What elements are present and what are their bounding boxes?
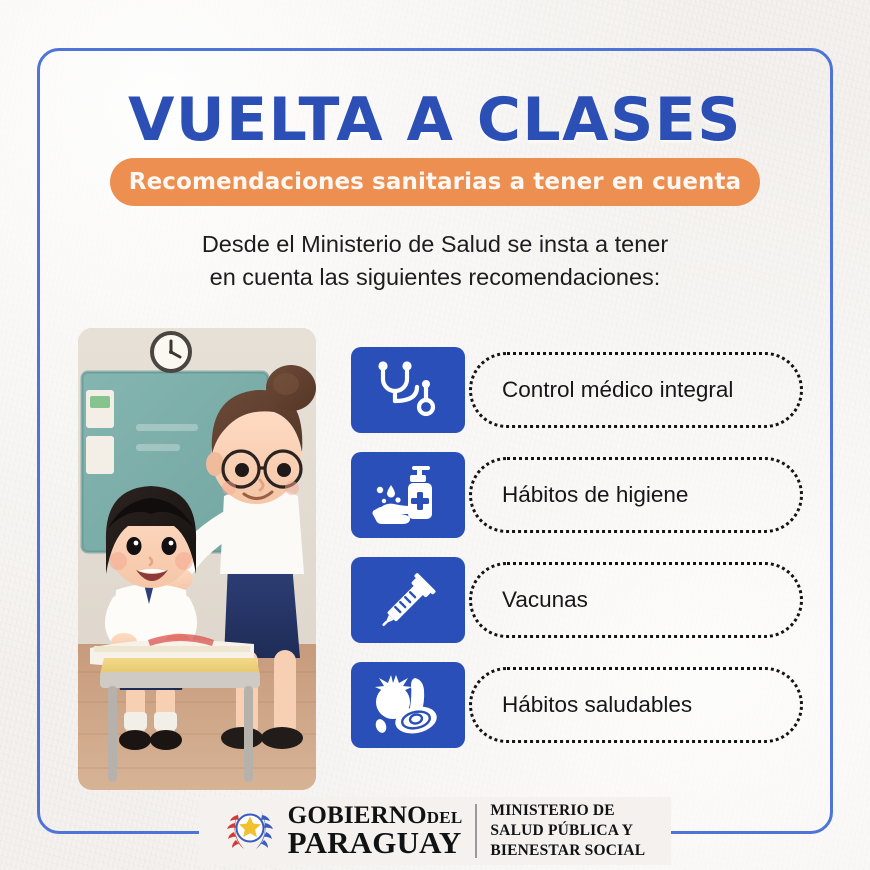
recommendation-pill: Control médico integral bbox=[469, 352, 803, 428]
ministerio-line-2: SALUD PÚBLICA Y bbox=[490, 821, 645, 841]
recommendations-list: Control médico integral bbox=[351, 347, 803, 767]
recommendation-label: Vacunas bbox=[502, 587, 588, 613]
recommendation-label: Hábitos saludables bbox=[502, 692, 692, 718]
recommendation-pill: Hábitos saludables bbox=[469, 667, 803, 743]
stethoscope-icon bbox=[351, 347, 465, 433]
paraguay-coat-of-arms-icon bbox=[225, 803, 275, 858]
recommendation-label: Control médico integral bbox=[502, 377, 733, 403]
intro-line-2: en cuenta las siguientes recomendaciones… bbox=[0, 261, 870, 294]
gobierno-line-2: PARAGUAY bbox=[288, 828, 463, 858]
intro-paragraph: Desde el Ministerio de Salud se insta a … bbox=[0, 228, 870, 294]
footer-divider bbox=[475, 804, 477, 858]
recommendation-row[interactable]: Vacunas bbox=[351, 557, 803, 643]
page-title: VUELTA A CLASES bbox=[0, 85, 870, 155]
recommendation-row[interactable]: Hábitos de higiene bbox=[351, 452, 803, 538]
ministerio-line-1: MINISTERIO DE bbox=[490, 801, 645, 821]
syringe-icon bbox=[351, 557, 465, 643]
recommendation-pill: Hábitos de higiene bbox=[469, 457, 803, 533]
poster-canvas: VUELTA A CLASES Recomendaciones sanitari… bbox=[0, 0, 870, 870]
subtitle-banner: Recomendaciones sanitarias a tener en cu… bbox=[110, 158, 760, 206]
intro-line-1: Desde el Ministerio de Salud se insta a … bbox=[0, 228, 870, 261]
recommendation-pill: Vacunas bbox=[469, 562, 803, 638]
recommendation-row[interactable]: Control médico integral bbox=[351, 347, 803, 433]
hand-sanitizer-icon bbox=[351, 452, 465, 538]
subtitle-banner-text: Recomendaciones sanitarias a tener en cu… bbox=[129, 169, 741, 195]
recommendation-label: Hábitos de higiene bbox=[502, 482, 688, 508]
footer: GOBIERNODEL PARAGUAY MINISTERIO DE SALUD… bbox=[0, 795, 870, 867]
footer-inner: GOBIERNODEL PARAGUAY MINISTERIO DE SALUD… bbox=[199, 797, 672, 864]
recommendation-row[interactable]: Hábitos saludables bbox=[351, 662, 803, 748]
ministerio-wordmark: MINISTERIO DE SALUD PÚBLICA Y BIENESTAR … bbox=[490, 801, 645, 860]
gobierno-wordmark: GOBIERNODEL PARAGUAY bbox=[288, 804, 463, 859]
ministerio-line-3: BIENESTAR SOCIAL bbox=[490, 841, 645, 861]
healthy-food-icon bbox=[351, 662, 465, 748]
classroom-illustration bbox=[78, 328, 316, 790]
